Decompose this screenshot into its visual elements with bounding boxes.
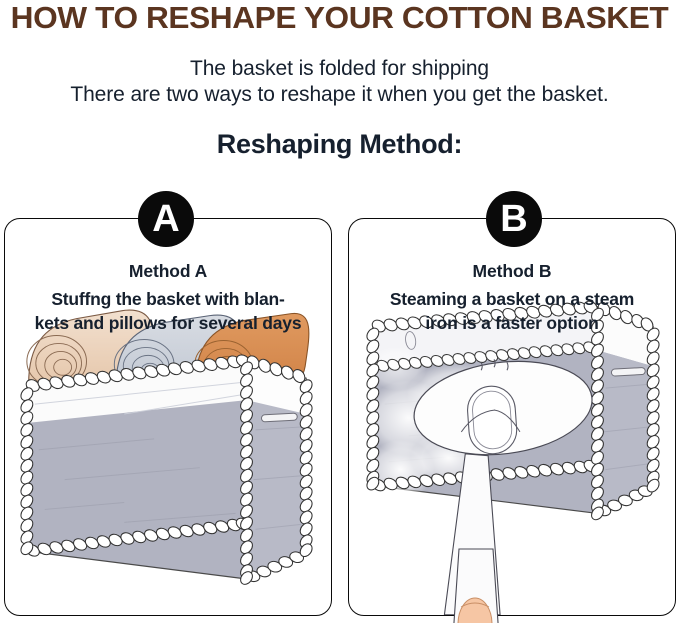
- steam-iron: [409, 352, 598, 615]
- method-a-label: Method A: [15, 259, 321, 283]
- page-title: HOW TO RESHAPE YOUR COTTON BASKET: [0, 0, 679, 36]
- badge-a: A: [138, 191, 194, 247]
- method-b-desc-line-2: iron is a faster option: [359, 311, 665, 335]
- header: HOW TO RESHAPE YOUR COTTON BASKET The ba…: [0, 0, 679, 160]
- method-b-label: Method B: [359, 259, 665, 283]
- basket-handle-slot: [611, 367, 645, 376]
- card-a-text: Method A Stuffng the basket with blan- k…: [15, 259, 321, 335]
- method-a-desc-line-2: kets and pillows for several days: [15, 311, 321, 335]
- basket-body: [27, 360, 306, 579]
- steam-marks: [481, 359, 508, 370]
- subtitle-line-1: The basket is folded for shipping: [0, 56, 679, 82]
- method-card-b: B Method B Steaming a basket on a steam …: [348, 218, 676, 616]
- badge-b: B: [486, 191, 542, 247]
- basket-body-empty: [373, 307, 653, 514]
- method-b-desc-line-1: Steaming a basket on a steam: [359, 287, 665, 311]
- infographic-page: HOW TO RESHAPE YOUR COTTON BASKET The ba…: [0, 0, 679, 623]
- card-b-text: Method B Steaming a basket on a steam ir…: [359, 259, 665, 335]
- steam-vapor: [365, 346, 538, 499]
- section-heading: Reshaping Method:: [0, 128, 679, 160]
- subtitle-line-2: There are two ways to reshape it when yo…: [0, 82, 679, 108]
- rope-trim: [19, 351, 315, 587]
- method-a-description: Stuffng the basket with blan- kets and p…: [15, 287, 321, 335]
- subtitle-block: The basket is folded for shipping There …: [0, 56, 679, 108]
- method-a-desc-line-1: Stuffng the basket with blan-: [15, 287, 321, 311]
- method-card-a: A Method A Stuffng the basket with blan-…: [4, 218, 332, 616]
- method-b-description: Steaming a basket on a steam iron is a f…: [359, 287, 665, 335]
- basket-handle-slot: [261, 413, 297, 422]
